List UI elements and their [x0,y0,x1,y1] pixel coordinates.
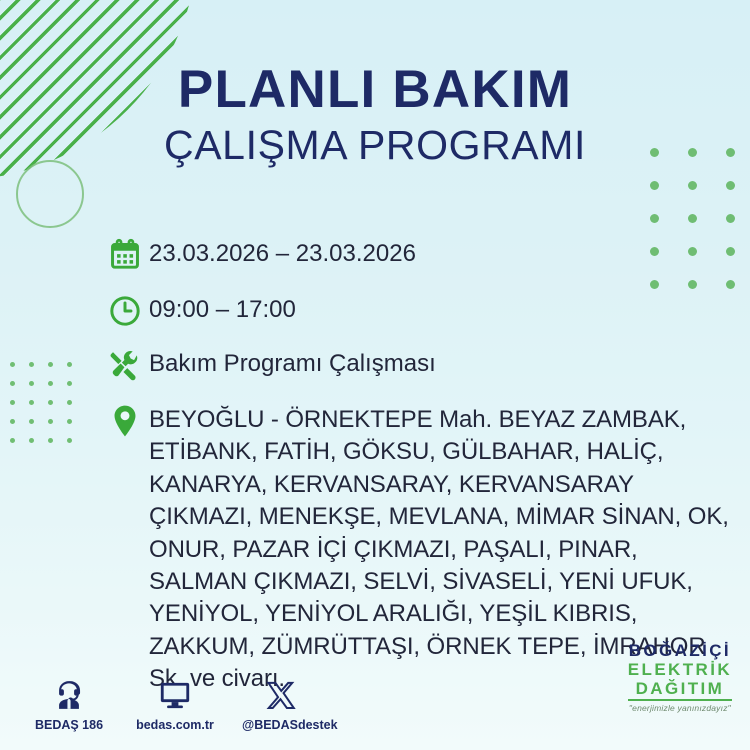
dot [67,400,72,405]
contact-phone[interactable]: BEDAŞ 186 [30,674,108,732]
dot [10,419,15,424]
dot [726,181,735,190]
tools-icon [101,346,149,382]
dot [650,181,659,190]
info-work-type-value: Bakım Programı Çalışması [149,346,436,380]
logo-line-bogazici: BOĞAZİÇİ [628,642,732,659]
contact-twitter[interactable]: @BEDASdestek [242,674,320,732]
contact-list: BEDAŞ 186 bedas.com.tr @BEDASdestek [30,674,320,732]
logo-tagline: "enerjimizle yanınızdayız" [628,704,732,713]
dot [10,362,15,367]
info-row-time: 09:00 – 17:00 [101,292,741,328]
headset-support-icon [30,674,108,712]
dot [10,438,15,443]
contact-twitter-label: @BEDASdestek [242,718,320,732]
dot [29,419,34,424]
info-time-value: 09:00 – 17:00 [149,292,296,326]
contact-phone-label: BEDAŞ 186 [30,718,108,732]
dot [67,438,72,443]
calendar-icon [101,236,149,272]
dot [48,381,53,386]
dot-grid-left-decoration [10,362,86,457]
clock-icon [101,292,149,328]
dot [48,400,53,405]
info-date-value: 23.03.2026 – 23.03.2026 [149,236,416,270]
info-row-date: 23.03.2026 – 23.03.2026 [101,236,741,272]
dot [67,381,72,386]
dot [650,214,659,223]
dot [29,400,34,405]
contact-website[interactable]: bedas.com.tr [136,674,214,732]
dot [688,214,697,223]
dot [726,214,735,223]
map-pin-icon [101,402,149,438]
dot [48,419,53,424]
dot [48,438,53,443]
page-title: PLANLI BAKIM [0,62,750,118]
dot [688,181,697,190]
bedas-logo: BOĞAZİÇİ ELEKTRİK DAĞITIM "enerjimizle y… [628,642,732,713]
x-twitter-icon [242,674,320,712]
dot [10,400,15,405]
dot [29,362,34,367]
dot [29,381,34,386]
info-row-work-type: Bakım Programı Çalışması [101,346,741,382]
dot [48,362,53,367]
dot [10,381,15,386]
monitor-icon [136,674,214,712]
contact-website-label: bedas.com.tr [136,718,214,732]
dot [29,438,34,443]
circle-outline-decoration [16,160,84,228]
logo-line-dagitim: DAĞITIM [628,680,732,701]
logo-line-elektrik: ELEKTRİK [628,661,732,678]
page-subtitle: ÇALIŞMA PROGRAMI [0,122,750,169]
dot [67,362,72,367]
dot [67,419,72,424]
page-header: PLANLI BAKIM ÇALIŞMA PROGRAMI [0,62,750,169]
